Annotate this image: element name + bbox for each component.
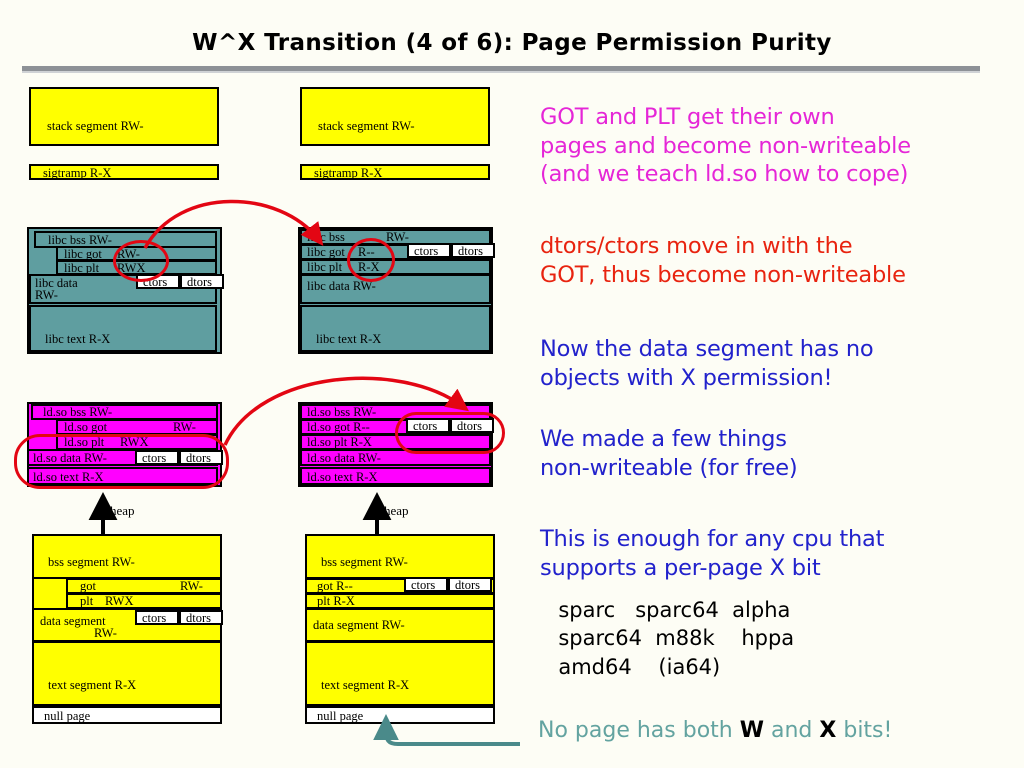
right-prog-data-label: data segment RW- [313,619,405,632]
left-prog-text: text segment R-X [32,641,222,706]
right-prog-data: data segment RW- [305,608,495,642]
right-libc-ctors-label: ctors [414,245,438,258]
left-ldso-dtors-label: dtors [186,452,211,465]
left-prog-dtors: dtors [179,610,223,625]
right-prog-bss: bss segment RW- [305,534,495,579]
left-ldso-ctors: ctors [135,450,179,465]
right-prog-ctors: ctors [404,577,448,592]
right-prog-ctors-label: ctors [411,579,435,592]
right-sigtramp-segment: sigtramp R-X [300,164,490,180]
left-prog-null-label: null page [44,710,90,723]
footer-note: No page has both W and X bits! [538,718,892,743]
left-ldso-bss: ld.so bss RW- [31,404,218,420]
left-ldso-dtors: dtors [179,450,223,465]
left-ldso-plt-perm: RWX [120,436,148,449]
right-prog-plt: plt R-X [305,593,495,609]
left-ldso-bss-label: ld.so bss RW- [43,406,112,419]
note-cpu-intro: This is enough for any cpu that supports… [540,525,884,582]
right-prog-null: null page [305,706,495,724]
left-prog-ctors-label: ctors [142,612,166,625]
right-ldso-text: ld.so text R-X [300,467,491,485]
note-data-segment: Now the data segment has no objects with… [540,335,873,392]
note-dtors-ctors: dtors/ctors move in with the GOT, thus b… [540,232,906,289]
left-prog-plt-label: plt [80,595,93,608]
left-ldso-plt: ld.so plt RWX [56,434,218,450]
left-ldso-text: ld.so text R-X [27,467,218,485]
right-libc-text: libc text R-X [300,305,491,352]
right-libc-got-label: libc got [307,246,345,259]
right-libc-plt-label: libc plt [307,261,342,274]
left-ldso-plt-label: ld.so plt [64,436,104,449]
right-ldso-ctors-label: ctors [413,420,437,433]
right-ldso-data: ld.so data RW- [300,449,491,466]
left-prog-bss-label: bss segment RW- [48,556,135,569]
footer-suffix: bits! [836,718,892,743]
right-heap-label: heap [384,503,409,519]
left-ldso-data-label: ld.so data RW- [33,452,107,465]
left-libc-ctors-label: ctors [143,276,167,289]
page-title: W^X Transition (4 of 6): Page Permission… [0,30,1024,56]
footer-prefix: No page has both [538,718,740,743]
left-libc-ctors: ctors [136,274,180,289]
left-libc-text-label: libc text R-X [45,333,110,346]
left-libc-got: libc got RW- [56,246,217,261]
left-prog-dtors-label: dtors [186,612,211,625]
right-stack-label: stack segment RW- [318,120,415,133]
right-prog-text-label: text segment R-X [321,679,409,692]
footer-pointer-arrow [386,724,520,744]
right-libc-data-label: libc data RW- [307,280,376,293]
left-libc-dtors-label: dtors [187,276,212,289]
left-prog-got-label: got [80,580,96,593]
right-prog-null-label: null page [317,710,363,723]
title-divider [22,66,980,71]
right-libc-got-perm: R-- [358,246,375,259]
right-libc-plt-perm: R-X [358,261,380,274]
right-libc-plt: libc plt R-X [300,259,491,275]
right-ldso-dtors-label: dtors [457,420,482,433]
cpu-list: sparc sparc64 alpha sparc64 m88k hppa am… [545,596,794,681]
left-ldso-got: ld.so got RW- [56,419,218,435]
right-ldso-ctors: ctors [406,418,450,433]
left-prog-text-label: text segment R-X [48,679,136,692]
left-ldso-text-label: ld.so text R-X [33,471,103,484]
right-prog-bss-label: bss segment RW- [321,556,408,569]
left-stack-label: stack segment RW- [47,120,144,133]
right-prog-got-label: got R-- [317,580,353,593]
right-prog-dtors: dtors [448,577,492,592]
slide-canvas: W^X Transition (4 of 6): Page Permission… [0,0,1024,768]
left-prog-plt: plt RWX [66,593,222,609]
right-ldso-dtors: dtors [450,418,494,433]
right-ldso-data-label: ld.so data RW- [307,452,381,465]
right-prog-text: text segment R-X [305,641,495,706]
left-libc-text: libc text R-X [29,305,217,352]
left-prog-data-perm: RW- [94,627,117,640]
right-libc-text-label: libc text R-X [316,333,381,346]
right-libc-ctors: ctors [407,243,451,258]
right-ldso-plt-label: ld.so plt R-X [307,436,372,449]
right-libc-bss-perm: RW- [386,231,409,244]
left-sigtramp-label: sigtramp R-X [43,167,111,180]
right-libc-dtors: dtors [451,243,495,258]
left-prog-bss: bss segment RW- [32,534,222,579]
left-prog-ctors: ctors [135,610,179,625]
right-ldso-bss-label: ld.so bss RW- [307,406,376,419]
right-stack-segment: stack segment RW- [300,87,490,146]
note-non-writeable: We made a few things non-writeable (for … [540,425,798,482]
right-ldso-text-label: ld.so text R-X [307,471,377,484]
right-libc-data: libc data RW- [300,274,491,304]
left-libc-plt: libc plt RWX [56,260,217,275]
left-ldso-got-perm: RW- [173,421,196,434]
footer-w: W [740,718,764,743]
right-prog-dtors-label: dtors [455,579,480,592]
footer-x: X [819,718,836,743]
left-prog-plt-perm: RWX [105,595,133,608]
left-libc-dtors: dtors [180,274,224,289]
left-ldso-ctors-label: ctors [142,452,166,465]
footer-middle: and [764,718,819,743]
right-prog-plt-label: plt R-X [317,595,355,608]
left-prog-null: null page [32,706,222,724]
note-got-plt: GOT and PLT get their own pages and beco… [540,103,911,189]
right-ldso-got-label: ld.so got R-- [307,421,370,434]
left-ldso-got-label: ld.so got [64,421,107,434]
right-libc-dtors-label: dtors [458,245,483,258]
left-prog-got: got RW- [66,578,222,594]
left-libc-data-perm: RW- [35,289,58,302]
left-prog-got-perm: RW- [180,580,203,593]
left-heap-label: heap [110,503,135,519]
right-ldso-plt: ld.so plt R-X [300,434,491,450]
right-libc-bss-label: libc bss [307,231,345,244]
left-stack-segment: stack segment RW- [29,87,219,146]
left-sigtramp-segment: sigtramp R-X [29,164,219,180]
right-sigtramp-label: sigtramp R-X [314,167,382,180]
